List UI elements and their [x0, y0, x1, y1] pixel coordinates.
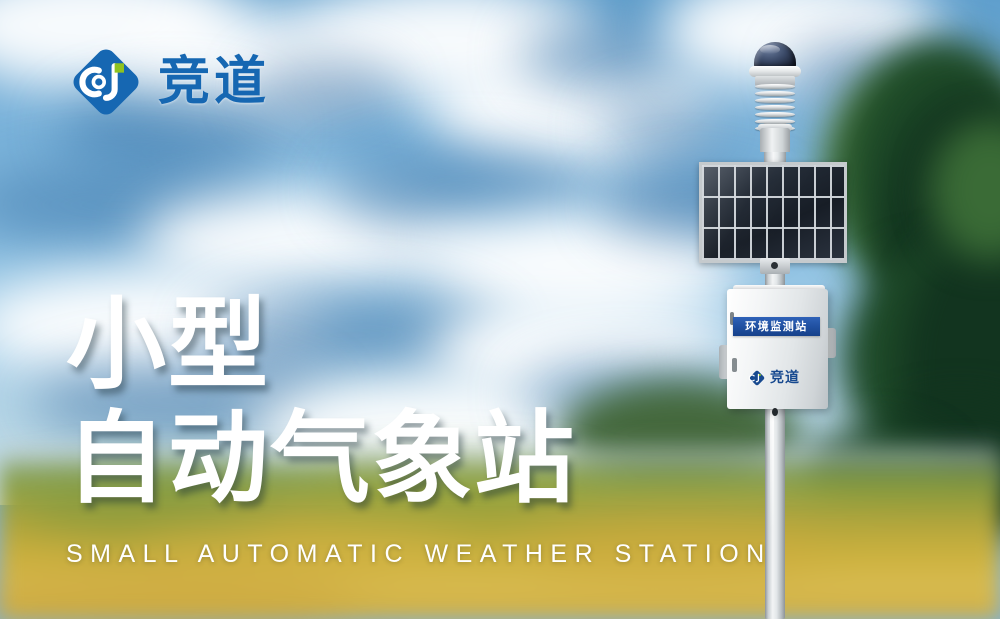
solar-panel-gloss [702, 165, 844, 260]
sensor-base [760, 128, 790, 152]
pole-highlight [770, 410, 774, 530]
brand-name: 竞道 [158, 56, 270, 108]
equipment-enclosure-icon [727, 289, 828, 409]
enclosure-brand-name: 竞道 [770, 371, 800, 385]
headline-line-1: 小型 [66, 288, 576, 402]
headline-block: 小型 自动气象站 [66, 288, 576, 516]
headline-line-2: 自动气象站 [66, 402, 576, 516]
dome-highlight [760, 45, 780, 54]
product-banner: 环境监测站 竞道 [0, 0, 1000, 619]
solar-panel-icon [699, 162, 847, 263]
headline-subtitle: SMALL AUTOMATIC WEATHER STATION [66, 540, 772, 569]
cable-gland-icon [772, 408, 778, 416]
brand-logo[interactable]: 竞道 [70, 46, 270, 118]
solar-panel-bolt [771, 262, 778, 269]
jingdao-diamond-logo-icon [748, 369, 766, 387]
enclosure-brand-logo: 竞道 [748, 369, 800, 387]
enclosure-vent-lower [732, 358, 737, 372]
enclosure-banner: 环境监测站 [733, 317, 820, 336]
jingdao-diamond-logo-icon [70, 46, 142, 118]
enclosure-banner-label: 环境监测站 [745, 321, 808, 332]
